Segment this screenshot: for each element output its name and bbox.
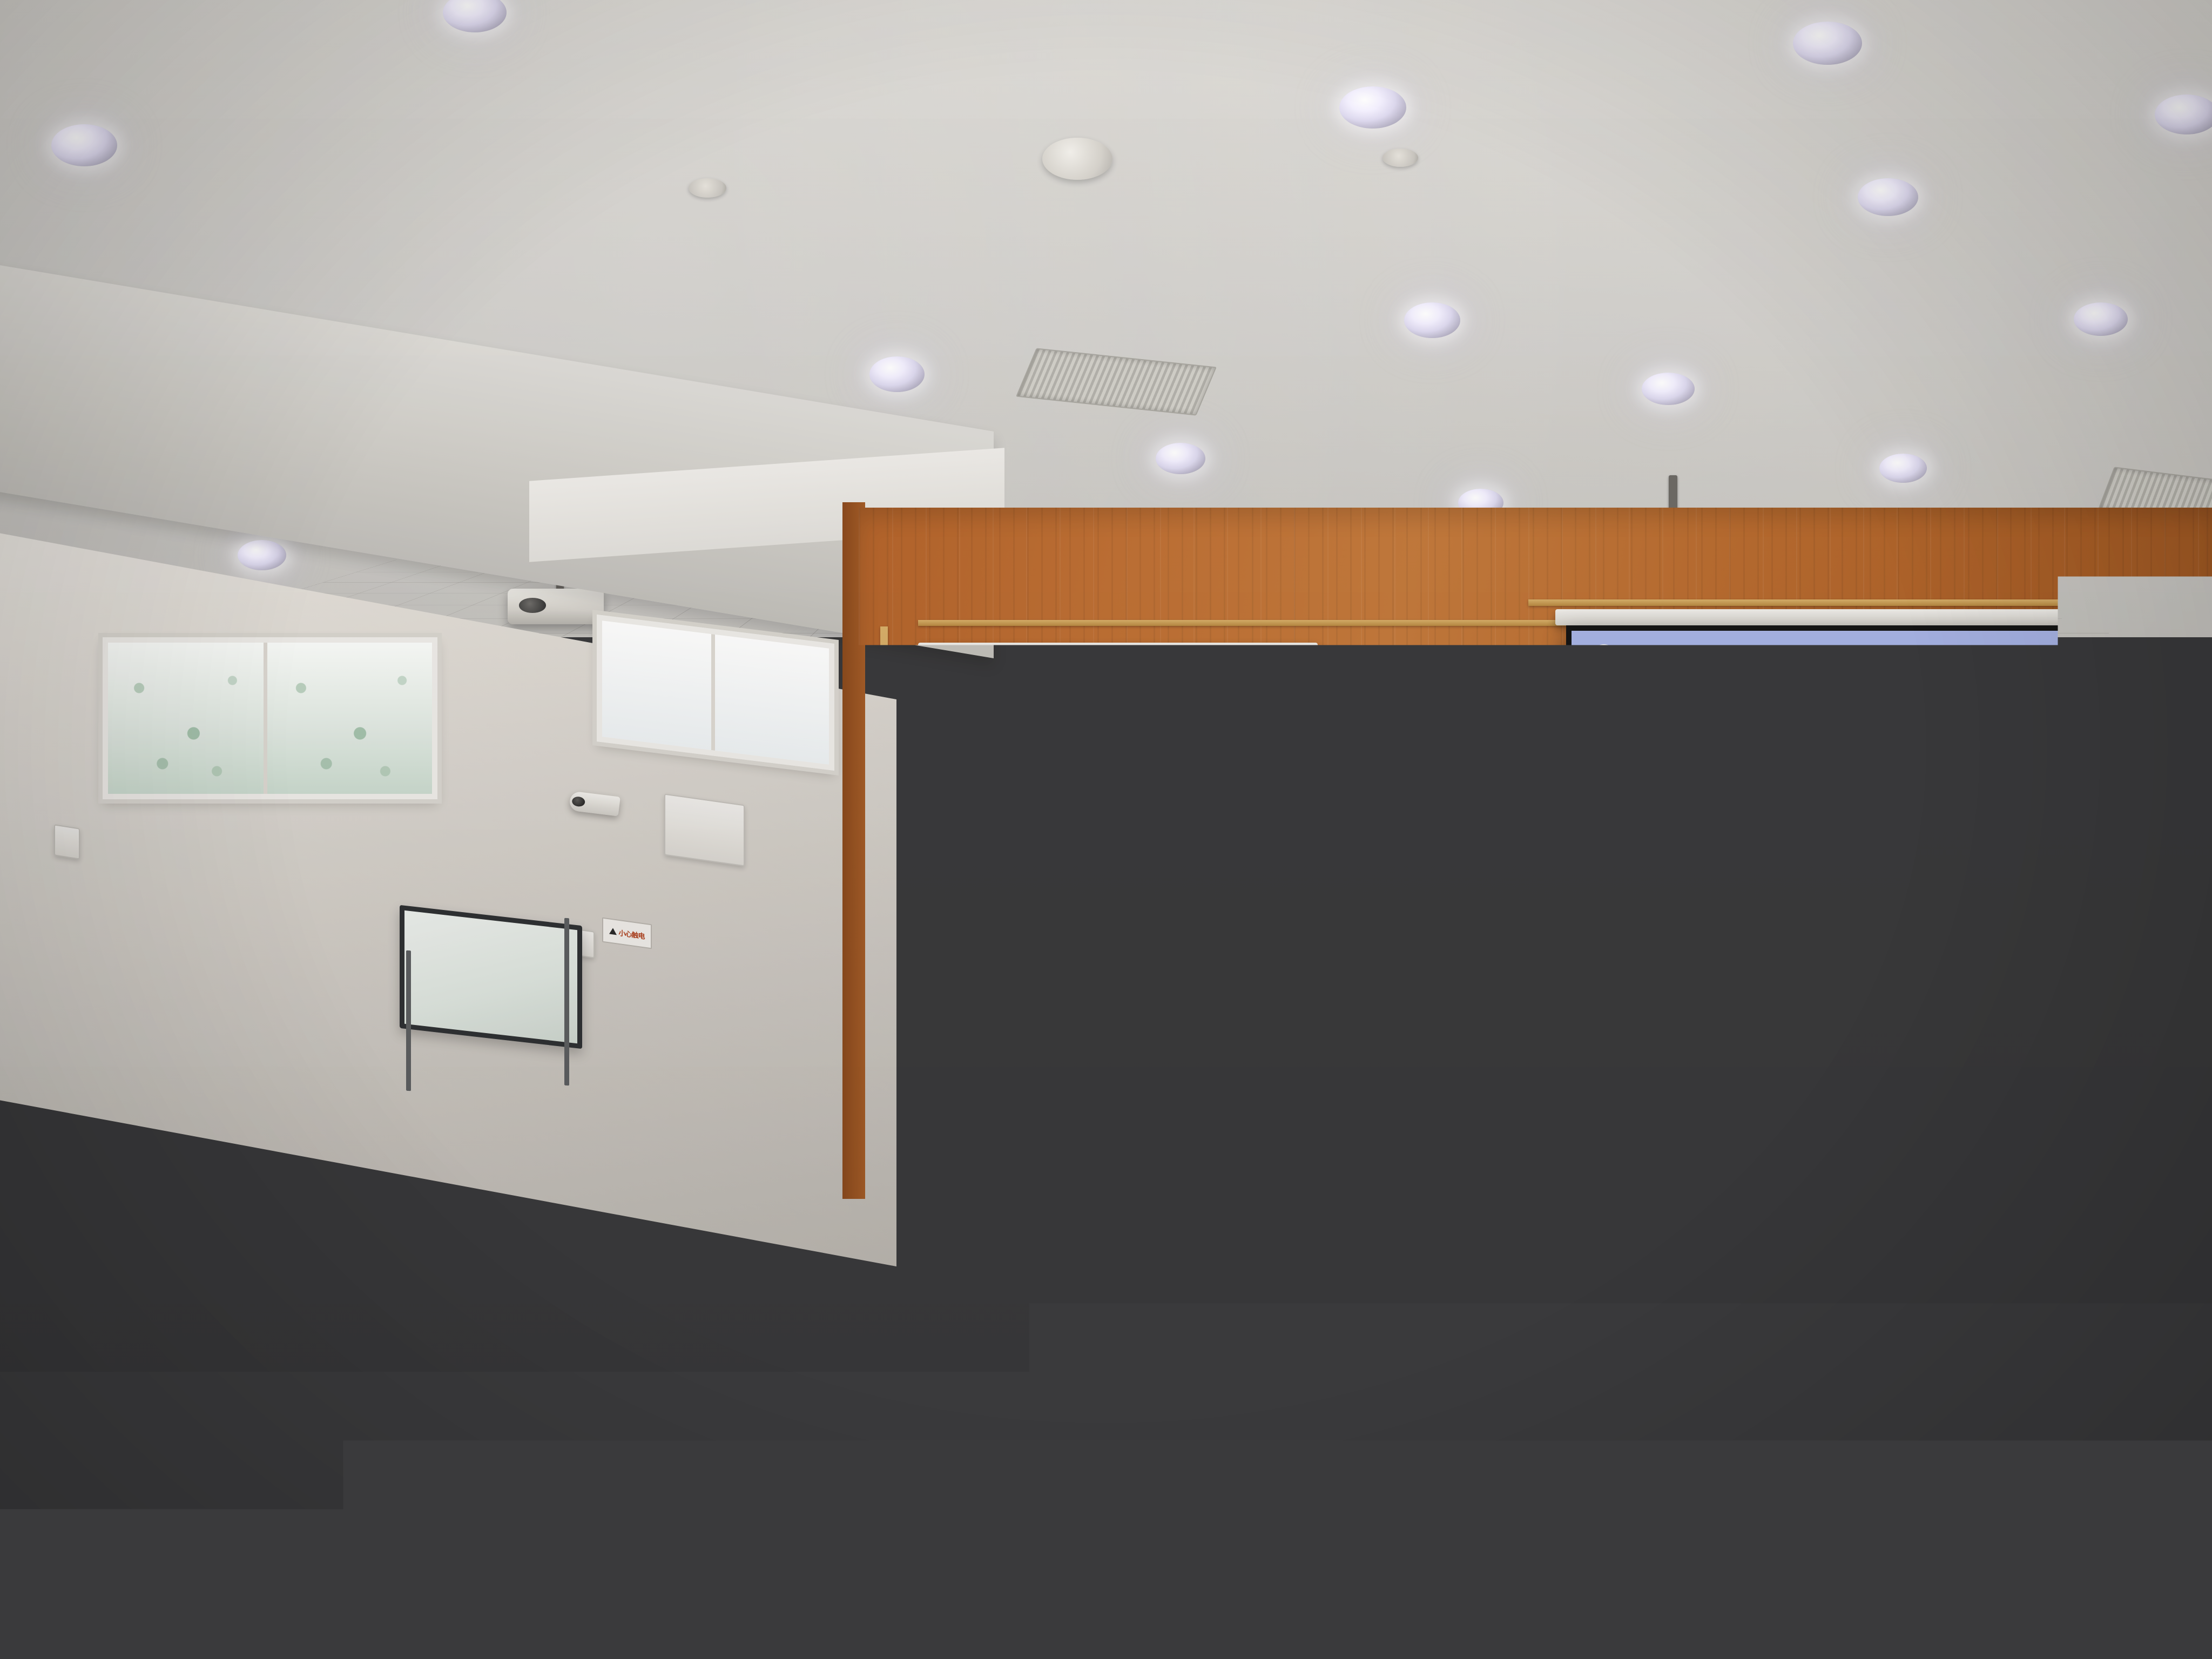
slide-right: ☉ 南京航空航天大学 机电学院 College of Mechanical & … <box>1572 631 2122 933</box>
person-torso <box>1114 1367 1283 1537</box>
person-torso <box>2110 1377 2212 1528</box>
person-torso <box>70 1289 228 1449</box>
slide-title-line1: 向下扎根 <box>1017 711 1184 769</box>
slide-logo-en: College of Mechanical & Electrical Engin… <box>1623 661 1762 665</box>
wood-wall-trim <box>1528 599 2212 606</box>
warning-sign-label: 小心触电 <box>618 927 644 941</box>
window-mullion <box>264 643 267 794</box>
slide-english-line1: Root Deep <box>1696 780 1763 799</box>
slide-glow-accent <box>1021 832 1046 857</box>
window-pane-right <box>267 643 436 794</box>
nuaa-emblem-icon: ☉ <box>948 673 969 693</box>
sprinkler-head-icon <box>689 178 726 198</box>
wall-speaker-left <box>880 734 908 848</box>
ceiling-downlight <box>51 124 117 166</box>
ceiling-downlight <box>2074 302 2128 336</box>
clock-time-display: 1401 <box>1407 733 1477 762</box>
projection-screen-right: ☉ 南京航空航天大学 机电学院 College of Mechanical & … <box>1566 625 2128 939</box>
person-torso <box>1192 1042 1306 1156</box>
water-bottle <box>1345 1366 1368 1418</box>
nuaa-emblem-icon: ☉ <box>1591 644 1617 670</box>
person-torso <box>1525 1214 1668 1357</box>
window-pane-left <box>108 643 264 794</box>
ceiling-downlight <box>1858 178 1918 216</box>
person-torso <box>502 1574 734 1659</box>
slide-logo-text: 南京航空航天大学 机电学院 College of Mechanical & El… <box>1623 649 1762 665</box>
projection-screen-left: ☉ 南京航空航天大学 机电学院 College of Mechanical & … <box>928 657 1322 913</box>
slide-date-badge: 2026年3月 <box>1090 884 1159 901</box>
slide-english-line2: Grow Bold <box>1014 805 1064 818</box>
person-torso <box>2063 1153 2176 1269</box>
water-bottle <box>416 1496 454 1577</box>
slide-left: ☉ 南京航空航天大学 机电学院 College of Mechanical & … <box>933 662 1317 908</box>
window-mullion <box>711 634 715 751</box>
slide-date-badge: 2026年3月 <box>1797 901 1897 924</box>
window-pane-left <box>602 621 711 750</box>
slide-logo-left: ☉ 南京航空航天大学 机电学院 College of Mechanical & … <box>948 673 1080 693</box>
ceiling-downlight <box>2155 95 2212 134</box>
water-bottle <box>562 1431 589 1491</box>
slide-logo-cn: 南京航空航天大学 机电学院 <box>974 677 1080 686</box>
slide-logo-cn: 南京航空航天大学 机电学院 <box>1623 649 1762 661</box>
smoke-detector-icon <box>1042 138 1112 180</box>
slide-logo-right: ☉ 南京航空航天大学 机电学院 College of Mechanical & … <box>1591 644 1762 670</box>
wall-speaker-right <box>2137 702 2169 832</box>
slide-subtitle: 做好大二学年的沉淀与突围 <box>1017 860 1196 875</box>
sprinkler-head-icon <box>1382 149 1418 167</box>
wall-control-panel <box>54 824 80 860</box>
notebook-paper <box>1879 1360 1960 1402</box>
person-torso <box>1496 1580 1742 1659</box>
person-torso <box>275 1550 502 1659</box>
ceiling-downlight <box>869 356 925 392</box>
ceiling-downlight <box>238 540 286 570</box>
person-torso <box>1090 1058 1205 1174</box>
person-torso <box>929 1195 1068 1334</box>
person-torso <box>70 1509 286 1659</box>
person-torso <box>739 1565 974 1659</box>
person-torso <box>793 1009 905 1120</box>
screen-housing-left <box>918 643 1318 657</box>
slide-glow-accent <box>1704 842 1736 875</box>
slide-title-line2: 向上生长 <box>1737 767 1971 848</box>
slide-subtitle: 做好大二学年的沉淀与突围 <box>1692 873 1934 894</box>
screen-housing-right <box>1555 609 2128 625</box>
person-torso <box>1223 1205 1365 1347</box>
water-bottle <box>999 1258 1015 1293</box>
exterior-window <box>103 637 437 799</box>
slide-logo-text: 南京航空航天大学 机电学院 College of Mechanical & El… <box>974 677 1080 690</box>
lecture-hall-photo: 小心触电 1401 ☉ 南京航空航天大学 机电学院 College of Mec… <box>0 0 2212 1659</box>
slide-english-line2: Grow Bold <box>1687 805 1758 824</box>
bottle-cap <box>422 1484 447 1498</box>
digital-wall-clock: 1401 <box>1392 729 1493 766</box>
slide-title-line1: 向下扎根 <box>1692 688 1926 770</box>
presenter-glasses-icon <box>935 905 964 913</box>
audience-seating-area: NOBODY APPRECIATES GOOD HUMOR ANY MORE <box>0 956 2212 1659</box>
person-torso <box>2014 1601 2212 1659</box>
window-pane-right <box>715 635 833 765</box>
bottle-cap <box>566 1422 584 1433</box>
person-torso <box>1401 1050 1516 1164</box>
ceiling-downlight <box>1793 22 1862 65</box>
person-torso <box>1609 1061 1724 1176</box>
warning-triangle-icon <box>609 927 617 935</box>
ceiling-downlight <box>1404 302 1460 338</box>
slide-english-line1: Root Deep <box>1020 785 1068 799</box>
slide-logo-en: College of Mechanical & Electrical Engin… <box>974 686 1080 690</box>
slide-title-line2: 向上生长 <box>1048 775 1215 833</box>
ceiling-downlight <box>1339 86 1406 129</box>
ceiling-downlight <box>1642 373 1695 405</box>
ceiling-downlight <box>1879 454 1927 483</box>
ceiling-projector-left <box>508 589 604 624</box>
person-torso <box>987 1588 1225 1659</box>
person-torso <box>64 968 169 1073</box>
wall-junction-box <box>664 794 745 867</box>
ceiling-downlight <box>1156 443 1205 474</box>
person-torso <box>1755 1612 2004 1659</box>
person-torso <box>226 1312 387 1474</box>
